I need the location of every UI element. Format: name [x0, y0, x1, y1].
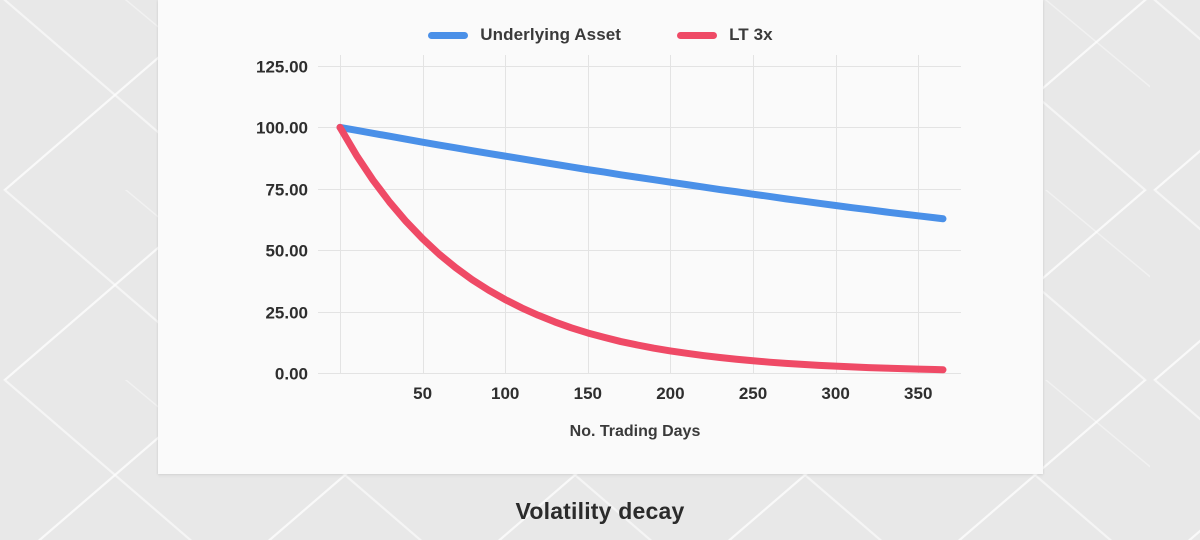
x-tick-label: 50 — [413, 384, 432, 403]
y-tick-label: 100.00 — [256, 119, 308, 138]
figure-caption: Volatility decay — [0, 498, 1200, 525]
y-tick-label: 50.00 — [265, 242, 308, 261]
x-axis-tick-labels: 50100150200250300350 — [413, 384, 932, 403]
y-axis-tick-labels: 0.0025.0050.0075.00100.00125.00 — [256, 58, 308, 384]
chart-card: Underlying Asset LT 3x 0.0025.0050.0075.… — [158, 0, 1043, 474]
x-tick-label: 100 — [491, 384, 519, 403]
x-tick-label: 150 — [574, 384, 602, 403]
x-tick-label: 200 — [656, 384, 684, 403]
series-line-lt-3x — [340, 127, 943, 369]
series-line-underlying-asset — [340, 127, 943, 218]
x-tick-label: 300 — [821, 384, 849, 403]
line-chart-plot: 0.0025.0050.0075.00100.00125.00 50100150… — [158, 0, 1043, 474]
x-tick-label: 250 — [739, 384, 767, 403]
y-tick-label: 125.00 — [256, 58, 308, 77]
y-tick-label: 75.00 — [265, 181, 308, 200]
x-axis-title: No. Trading Days — [570, 423, 701, 440]
x-tick-label: 350 — [904, 384, 932, 403]
y-tick-label: 0.00 — [275, 365, 308, 384]
data-series-lines — [340, 127, 943, 369]
grid-lines — [318, 55, 961, 374]
y-tick-label: 25.00 — [265, 304, 308, 323]
